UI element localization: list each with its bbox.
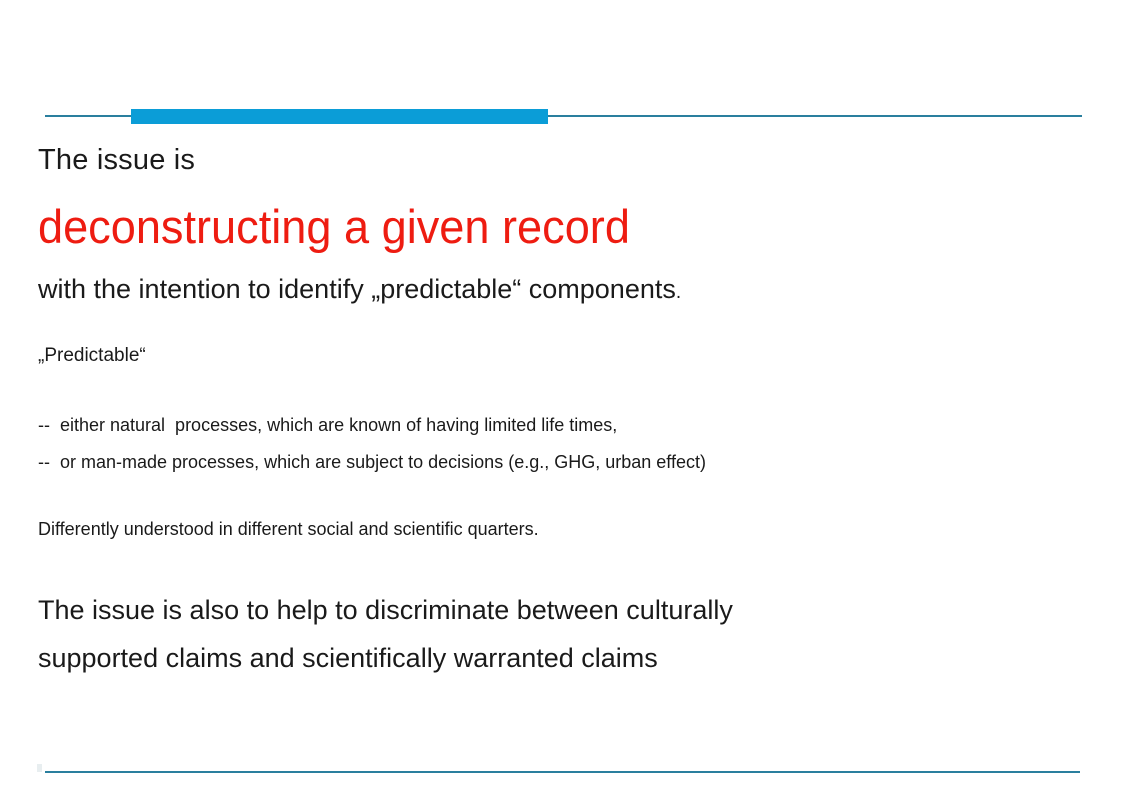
predictable-label: „Predictable“ [38, 343, 1078, 369]
slide-headline: deconstructing a given record [38, 196, 1036, 258]
slide-title-lead: The issue is [38, 140, 1078, 180]
header-decorative-rule [0, 107, 1122, 125]
bullet-list: -- either natural processes, which are k… [38, 407, 1078, 481]
bullet-item: -- either natural processes, which are k… [38, 407, 1078, 444]
bullet-item: -- or man-made processes, which are subj… [38, 444, 1078, 481]
slide-subtitle-period: . [676, 282, 681, 303]
footer-tick-mark [37, 764, 42, 772]
slide-content: The issue is deconstructing a given reco… [38, 140, 1078, 682]
header-accent-bar [131, 109, 548, 124]
interpretation-note: Differently understood in different soci… [38, 516, 1078, 542]
closing-line: The issue is also to help to discriminat… [38, 586, 1078, 634]
closing-line: supported claims and scientifically warr… [38, 634, 1078, 682]
slide-canvas: The issue is deconstructing a given reco… [0, 0, 1122, 793]
footer-decorative-rule [45, 771, 1080, 773]
header-rule-left-segment [45, 115, 131, 117]
header-rule-right-segment [548, 115, 1082, 117]
slide-subtitle: with the intention to identify „predicta… [38, 270, 1078, 312]
slide-subtitle-text: with the intention to identify „predicta… [38, 274, 676, 304]
closing-statement: The issue is also to help to discriminat… [38, 586, 1078, 682]
